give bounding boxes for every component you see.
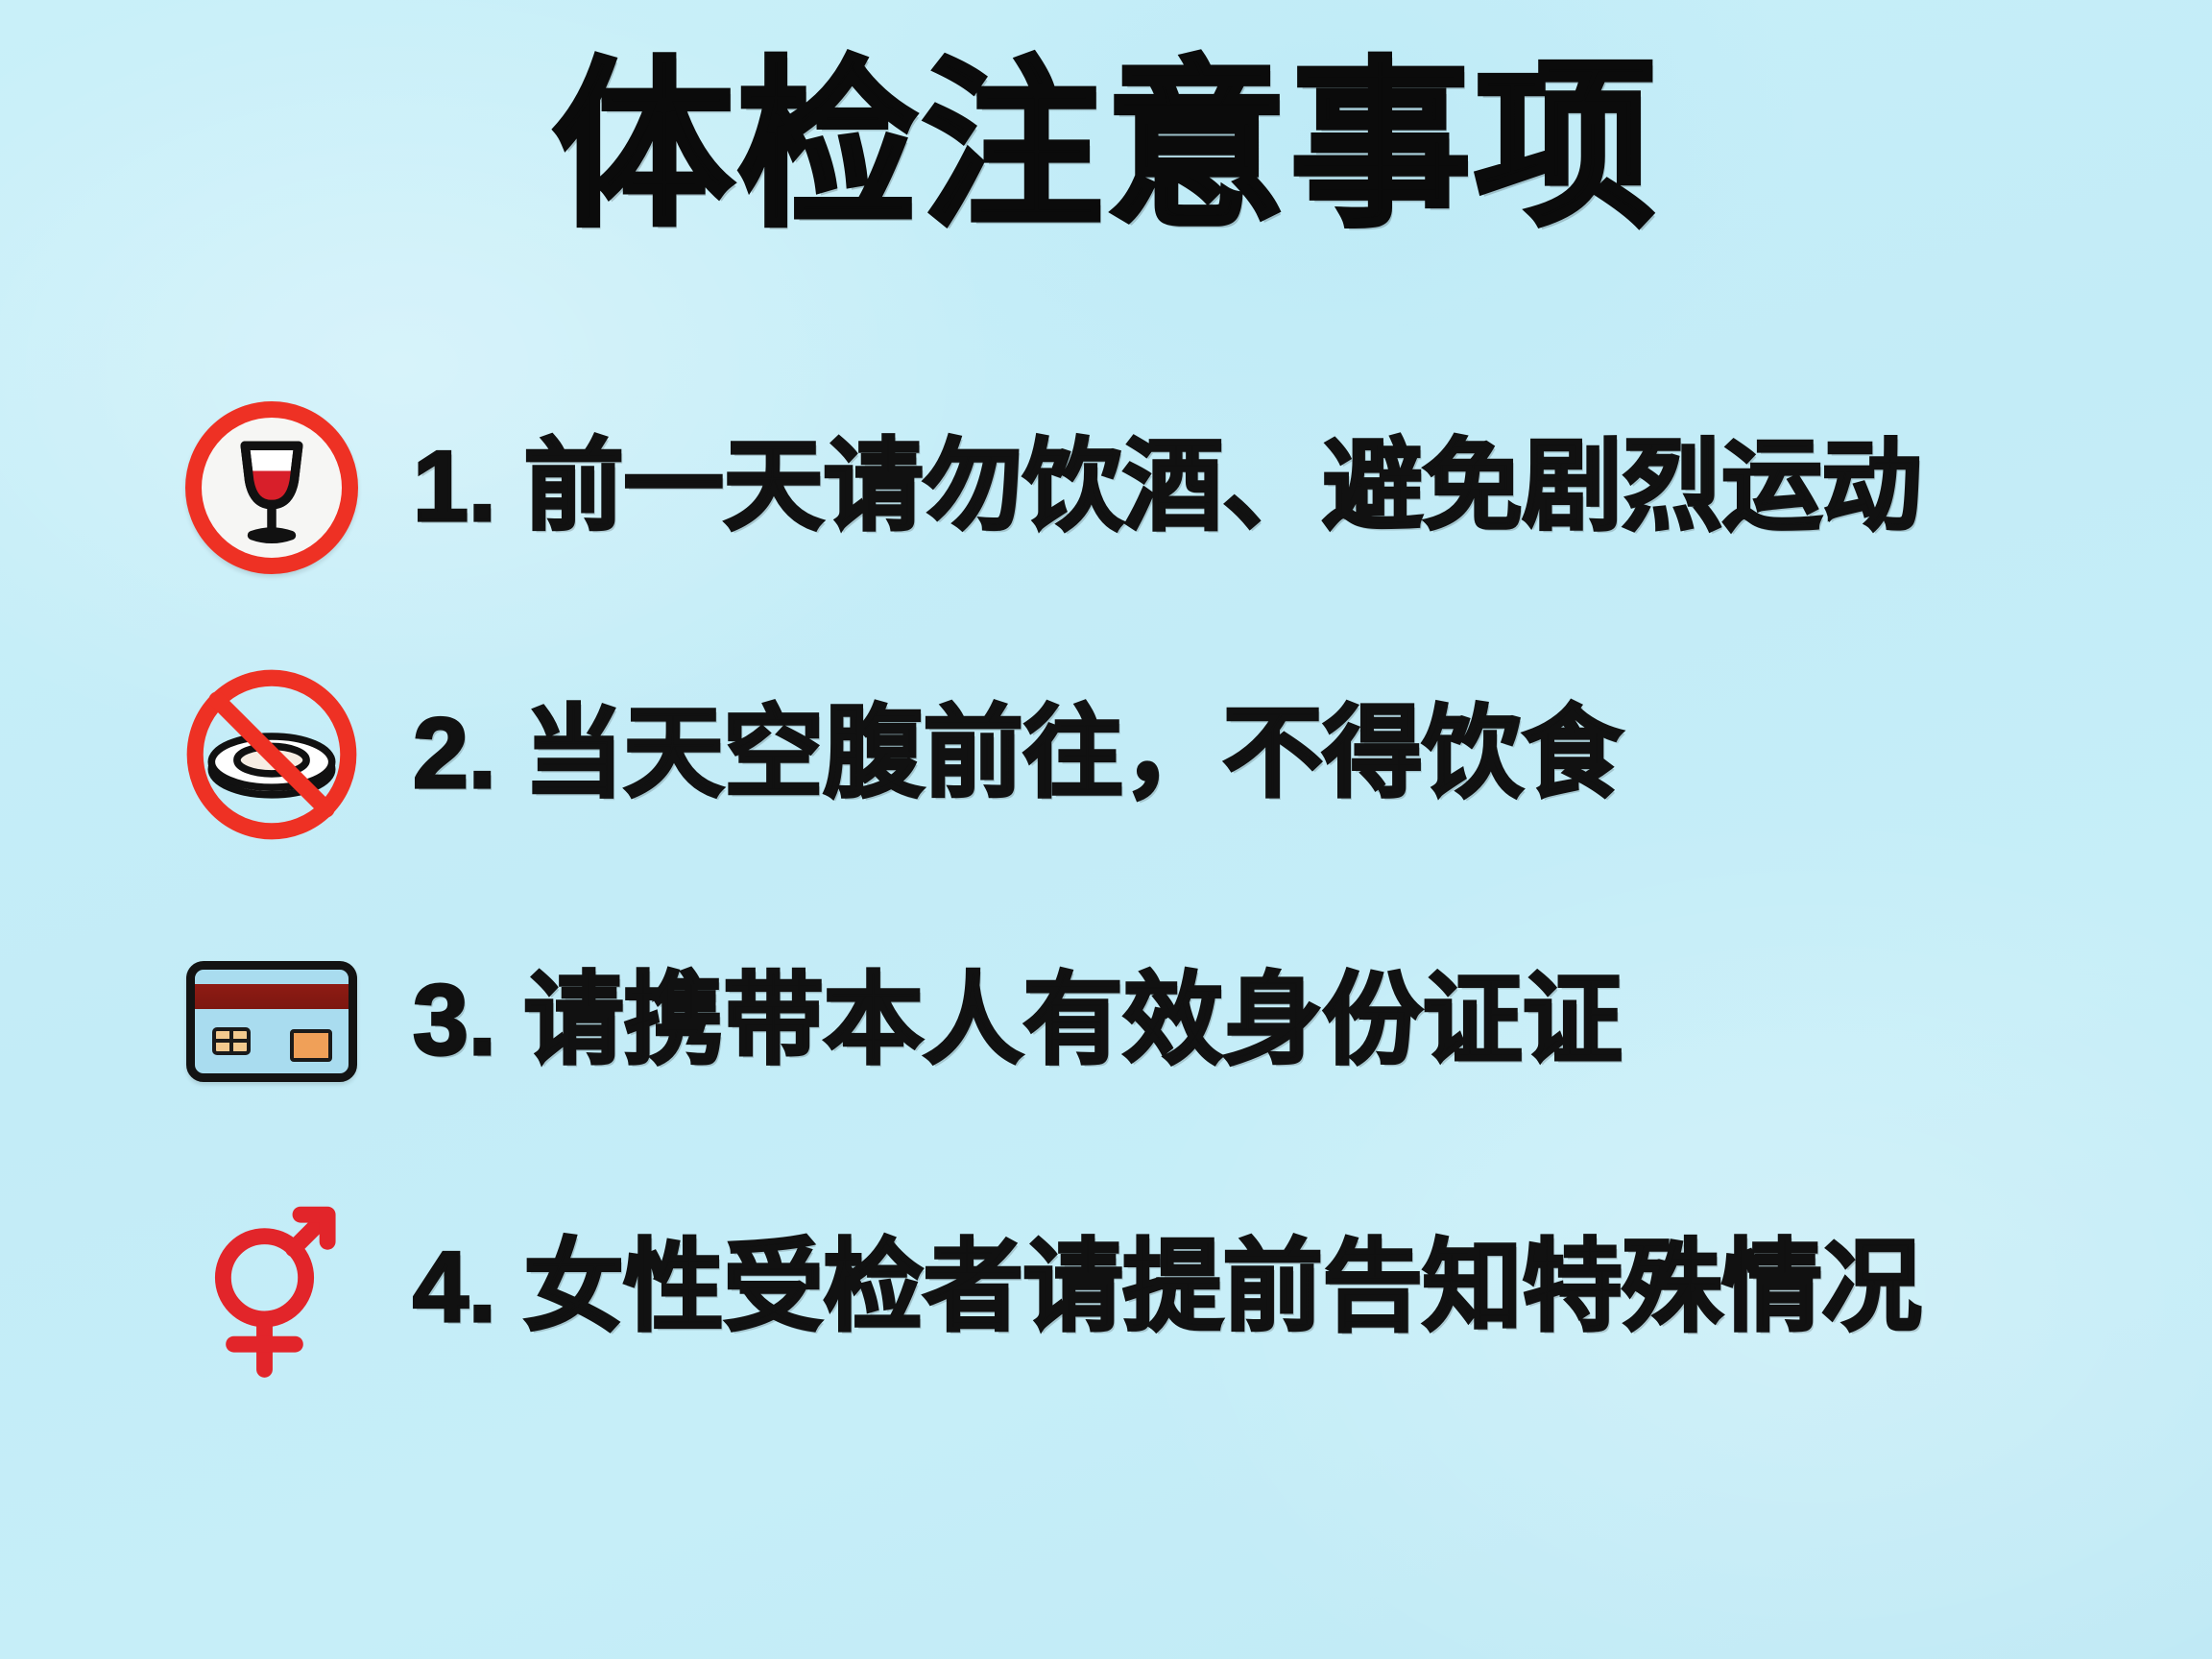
card-body bbox=[186, 961, 357, 1082]
no-food-graphic bbox=[180, 663, 363, 846]
gender-symbol-icon bbox=[182, 1192, 360, 1384]
list-item-label: 3. 请携带本人有效身份证证 bbox=[413, 969, 1623, 1073]
card-logo-box bbox=[290, 1029, 332, 1062]
page-title: 体检注意事项 bbox=[0, 56, 2212, 236]
list-item: 3. 请携带本人有效身份证证 bbox=[0, 918, 2212, 1124]
plate-prohibition-icon bbox=[180, 663, 363, 846]
health-checkup-notice-poster: 体检注意事项 1. 前一天请勿饮酒、避免剧烈运动 bbox=[0, 0, 2212, 1659]
no-alcohol-ring bbox=[185, 401, 358, 574]
wine-glass-icon bbox=[202, 418, 342, 558]
notice-list: 1. 前一天请勿饮酒、避免剧烈运动 bbox=[0, 384, 2212, 1391]
list-item: 2. 当天空腹前往，不得饮食 bbox=[0, 651, 2212, 857]
no-alcohol-icon bbox=[182, 392, 360, 584]
card-chip bbox=[212, 1027, 251, 1055]
list-item-label: 1. 前一天请勿饮酒、避免剧烈运动 bbox=[413, 435, 1922, 540]
id-card-icon bbox=[182, 926, 360, 1118]
list-item: 4. 女性受检者请提前告知特殊情况 bbox=[0, 1185, 2212, 1391]
list-item-label: 4. 女性受检者请提前告知特殊情况 bbox=[413, 1236, 1922, 1340]
list-item: 1. 前一天请勿饮酒、避免剧烈运动 bbox=[0, 384, 2212, 590]
male-female-combined-icon bbox=[200, 1197, 344, 1380]
list-item-label: 2. 当天空腹前往，不得饮食 bbox=[413, 702, 1623, 806]
no-food-icon bbox=[182, 659, 360, 851]
card-magnetic-stripe bbox=[195, 984, 349, 1009]
gender-graphic bbox=[200, 1197, 344, 1380]
